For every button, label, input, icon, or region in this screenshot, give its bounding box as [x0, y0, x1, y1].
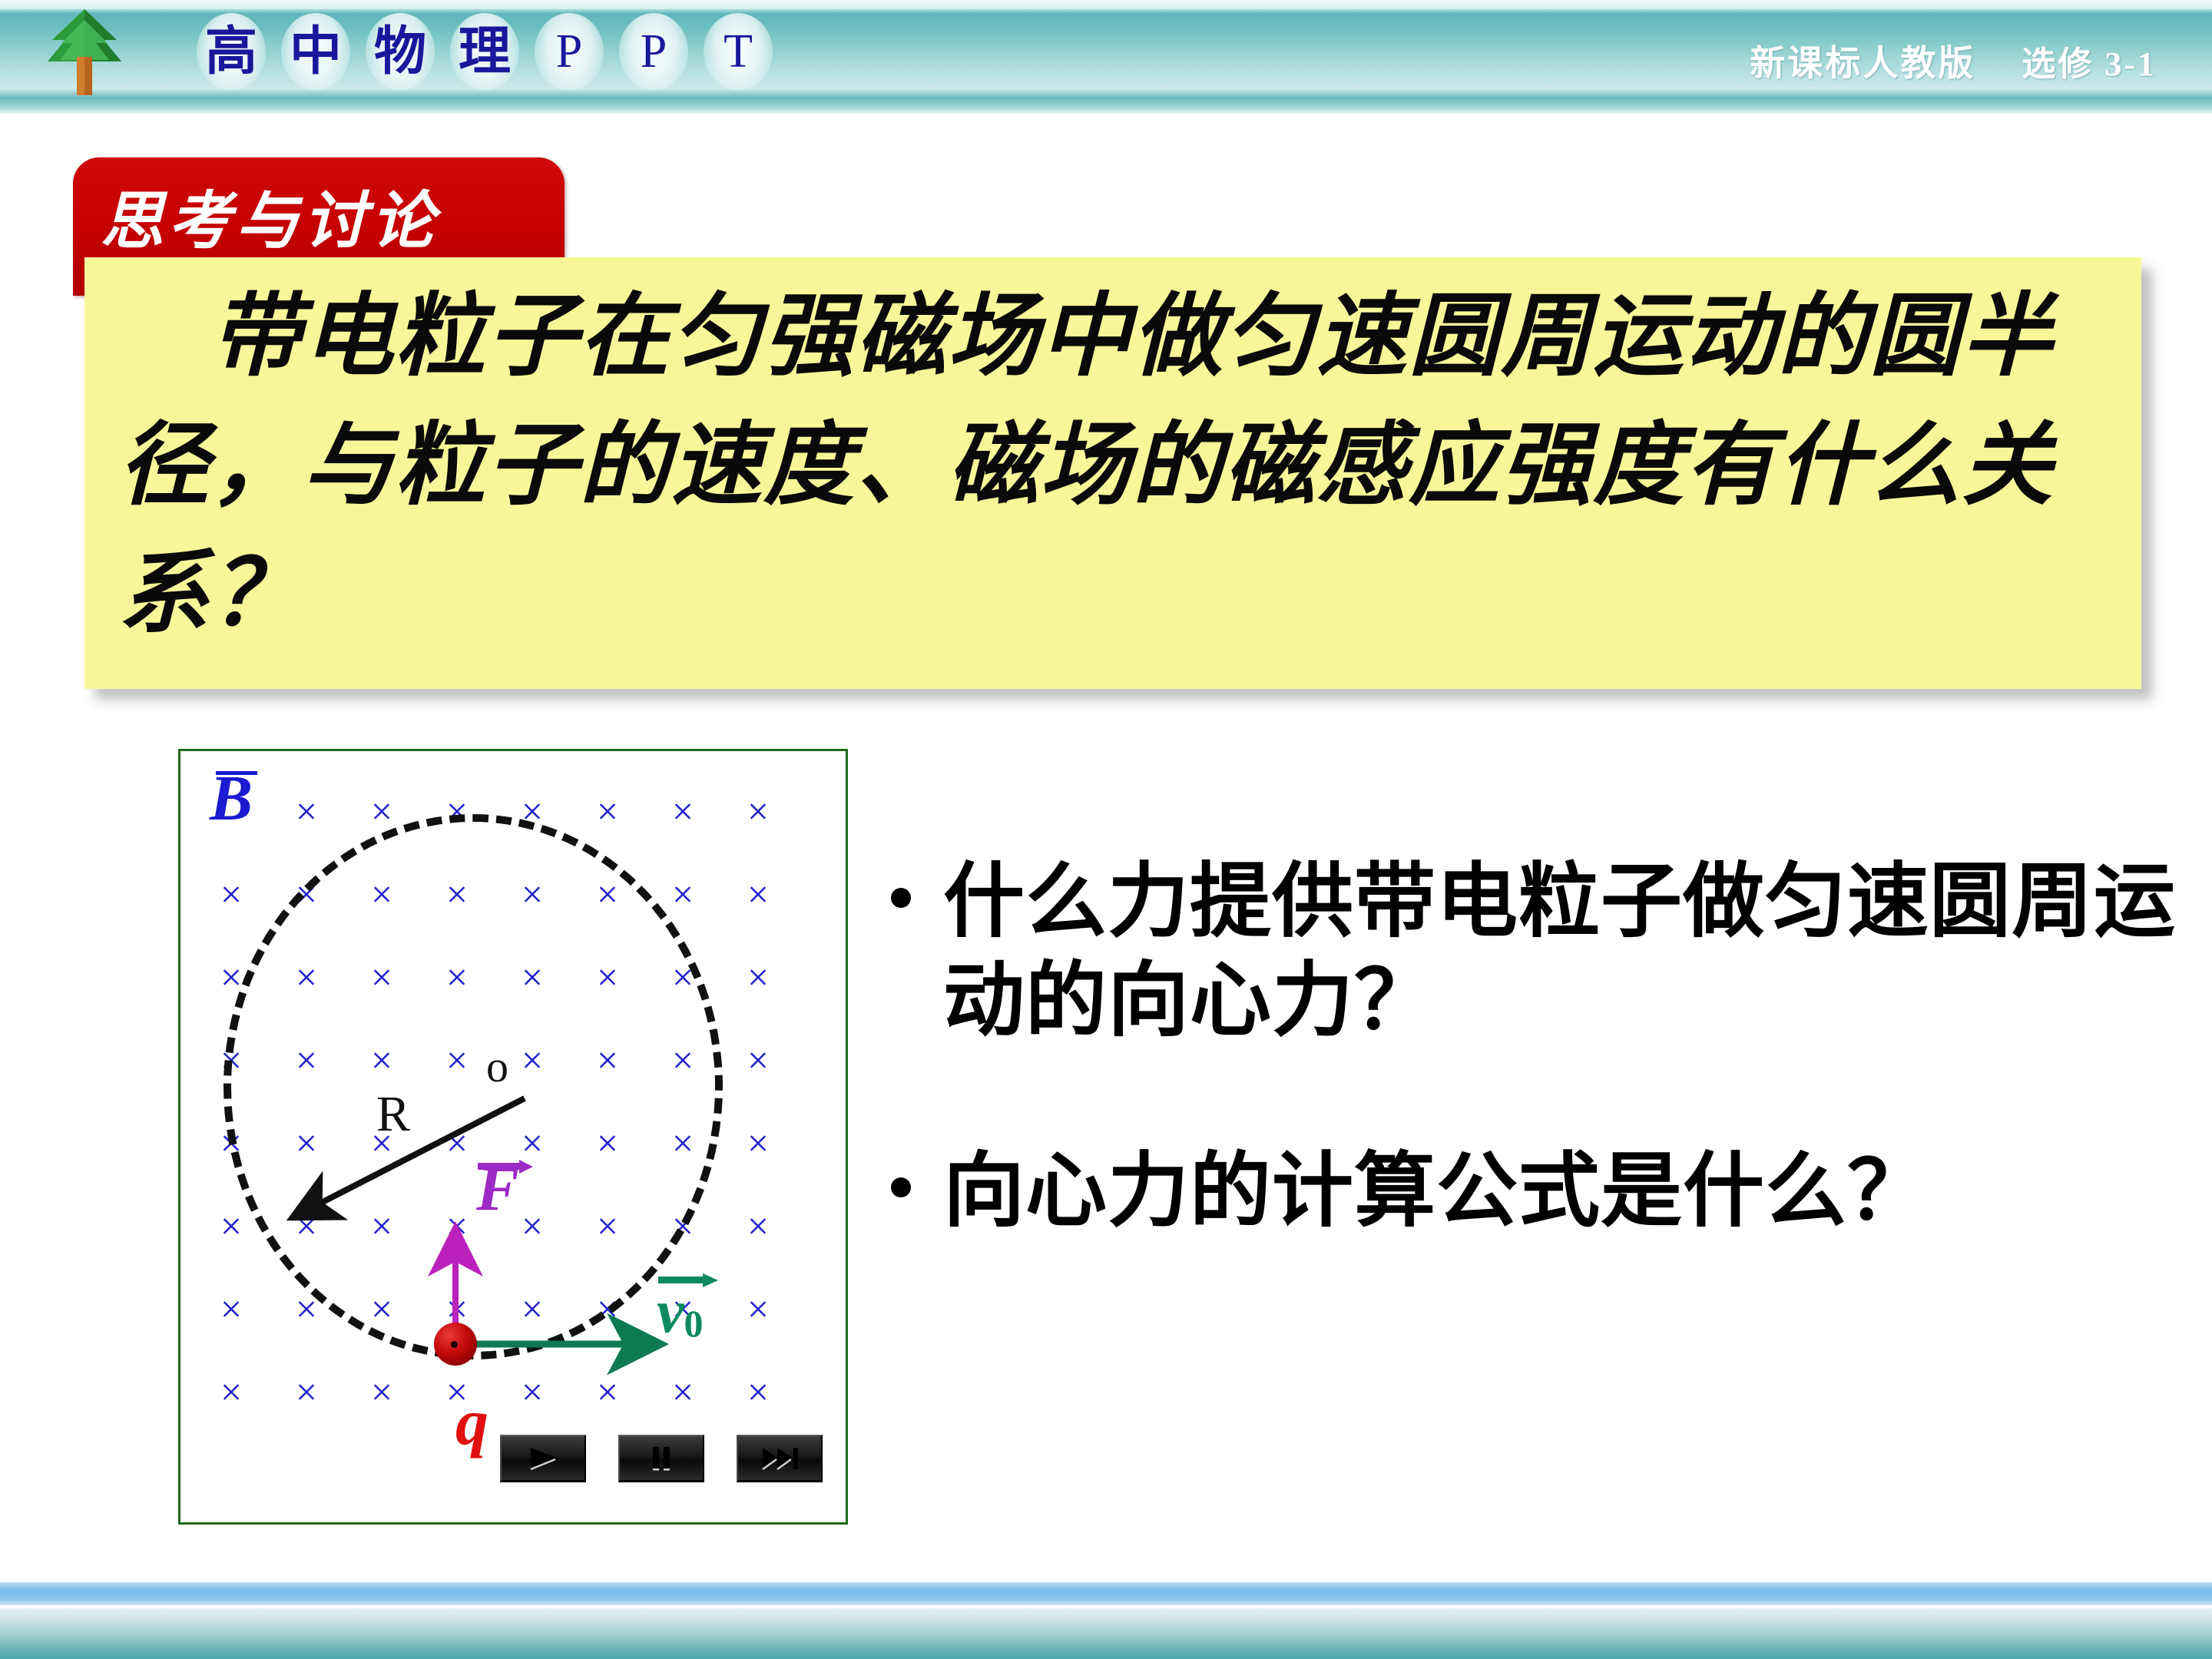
- header-title-char-6-text: T: [724, 28, 753, 75]
- field-x-mark: ×: [747, 1290, 769, 1328]
- bullet-text: 什么力提供带电粒子做匀速圆周运动的向心力？: [943, 853, 2197, 1051]
- list-item: 向心力的计算公式是什么？: [891, 1142, 2197, 1241]
- header-title-char-3: 理: [445, 12, 524, 91]
- play-button[interactable]: [500, 1435, 586, 1482]
- field-x-mark: ×: [296, 792, 317, 830]
- bullet-text: 向心力的计算公式是什么？: [943, 1142, 1929, 1241]
- field-x-mark: ×: [672, 875, 694, 913]
- skip-to-end-button[interactable]: [737, 1435, 823, 1482]
- physics-diagram: ××××××××××××××××××××××××××××××××××××××××…: [178, 749, 848, 1525]
- footer-body: [0, 1608, 2212, 1659]
- media-controls: [500, 1435, 823, 1482]
- field-x-mark: ×: [672, 792, 694, 830]
- field-x-mark: ×: [747, 1373, 769, 1411]
- velocity-symbol: v: [657, 1278, 684, 1346]
- header-title-char-2: 物: [361, 12, 439, 91]
- field-x-mark: ×: [220, 1290, 242, 1328]
- banner-label: 思考与讨论: [101, 170, 439, 261]
- header-title-char-4: P: [530, 12, 608, 91]
- field-x-mark: ×: [220, 1373, 242, 1411]
- field-x-mark: ×: [220, 1207, 242, 1245]
- field-x-mark: ×: [747, 1124, 769, 1162]
- charged-particle: [434, 1323, 477, 1366]
- question-text: 带电粒子在匀强磁场中做匀速圆周运动的圆半径，与粒子的速度、磁场的磁感应强度有什么…: [118, 273, 2115, 659]
- field-x-mark: ×: [371, 1373, 392, 1411]
- header-title-char-1: 中: [276, 12, 355, 91]
- header-title-char-0-text: 高: [205, 25, 257, 78]
- circle-center-label: o: [486, 1045, 508, 1089]
- edition-publisher: 新课标人教版: [1750, 35, 1975, 86]
- force-label: F: [476, 1157, 519, 1221]
- header-title-char-5: P: [614, 12, 693, 91]
- play-icon: [522, 1444, 565, 1473]
- circular-orbit-path: [224, 814, 723, 1359]
- field-x-mark: ×: [747, 875, 769, 913]
- velocity-subscript: 0: [684, 1302, 704, 1345]
- page-header: 高 中 物 理 P P T 新课标人教版 选修 3-1: [0, 0, 2212, 114]
- header-title-char-1-text: 中: [290, 25, 342, 78]
- header-title-char-2-text: 物: [374, 25, 426, 78]
- question-box: 带电粒子在匀强磁场中做匀速圆周运动的圆半径，与粒子的速度、磁场的磁感应强度有什么…: [84, 257, 2141, 689]
- field-x-mark: ×: [597, 1373, 618, 1411]
- header-title-char-4-text: P: [556, 28, 582, 75]
- field-x-mark: ×: [371, 792, 392, 830]
- bullet-dot-icon: [891, 1177, 911, 1197]
- list-item: 什么力提供带电粒子做匀速圆周运动的向心力？: [891, 853, 2197, 1051]
- field-x-mark: ×: [747, 958, 769, 996]
- charge-label: q: [455, 1389, 488, 1455]
- footer-stripe: [0, 1582, 2212, 1605]
- field-x-mark: ×: [220, 875, 242, 913]
- field-x-mark: ×: [747, 792, 769, 830]
- page-footer: [0, 1573, 2212, 1659]
- pause-icon: [640, 1444, 683, 1473]
- pause-button[interactable]: [618, 1435, 704, 1482]
- header-title-char-6: T: [699, 12, 777, 91]
- question-bullet-list: 什么力提供带电粒子做匀速圆周运动的向心力？ 向心力的计算公式是什么？: [891, 853, 2197, 1332]
- header-top-strip: [0, 0, 2212, 9]
- pine-tree-icon: [31, 6, 138, 98]
- header-title-char-0: 高: [192, 12, 270, 91]
- field-x-mark: ×: [672, 1373, 694, 1411]
- edition-volume: 选修 3-1: [2022, 36, 2157, 85]
- header-edition-info: 新课标人教版 选修 3-1: [1750, 35, 2157, 86]
- field-x-mark: ×: [747, 1207, 769, 1245]
- magnetic-field-label: B: [210, 767, 253, 831]
- header-title-char-5-text: P: [641, 28, 667, 75]
- velocity-label: v0: [657, 1281, 704, 1343]
- field-x-mark: ×: [296, 1373, 317, 1411]
- skip-end-icon: [758, 1444, 801, 1473]
- field-x-mark: ×: [747, 1041, 769, 1079]
- field-x-mark: ×: [597, 792, 618, 830]
- field-x-mark: ×: [522, 1373, 543, 1411]
- bullet-dot-icon: [891, 888, 911, 908]
- header-title-group: 高 中 物 理 P P T: [192, 11, 783, 92]
- radius-label: R: [376, 1089, 410, 1140]
- header-title-char-3-text: 理: [459, 25, 511, 78]
